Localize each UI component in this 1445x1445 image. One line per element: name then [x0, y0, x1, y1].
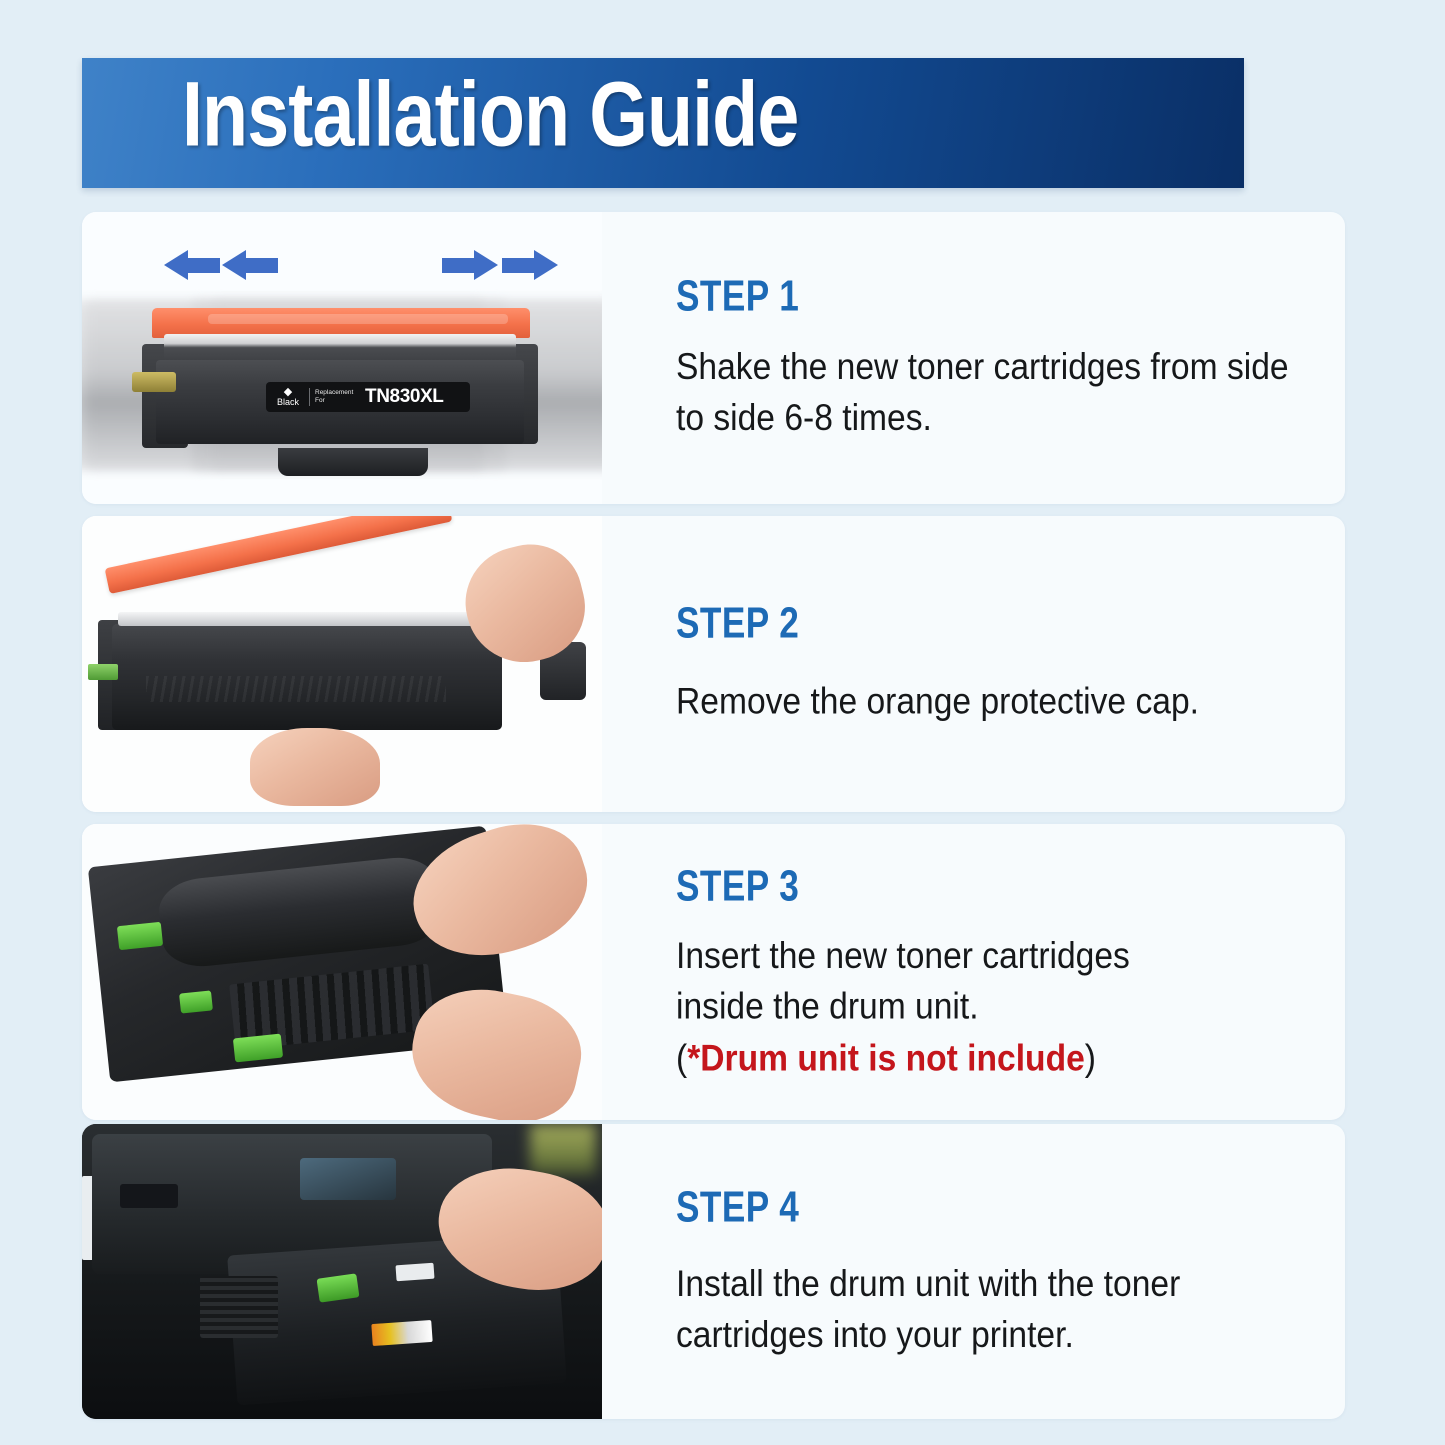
step-4-body: Install the drum unit with the toner car… — [676, 1259, 1290, 1361]
page-root: Installation Guide — [0, 0, 1445, 1445]
step-1-label: STEP 1 — [676, 272, 1265, 322]
label-replacement-text: Replacement For — [315, 389, 359, 405]
note-close-paren: ) — [1085, 1037, 1096, 1078]
cartridge-handle — [278, 448, 428, 476]
toner-cartridge-illustration: ◆ Black Replacement For TN830XL — [100, 294, 590, 479]
label-model-number: TN830XL — [365, 386, 444, 408]
drum-unit-illustration — [82, 824, 602, 1120]
shake-arrow-row — [82, 242, 602, 288]
drum-not-included-note: *Drum unit is not include — [687, 1037, 1085, 1078]
cartridge-body: ◆ Black Replacement For TN830XL — [138, 308, 538, 460]
step-3-body: Insert the new toner cartridges inside t… — [676, 931, 1290, 1085]
label-color-block: ◆ Black — [272, 387, 304, 407]
step-2-label: STEP 2 — [676, 599, 1265, 649]
cartridge-label: ◆ Black Replacement For TN830XL — [266, 382, 470, 412]
step-4-text: STEP 4 Install the drum unit with the to… — [602, 1124, 1345, 1419]
printer-installation-illustration — [82, 1124, 602, 1419]
step-1-body: Shake the new toner cartridges from side… — [676, 342, 1290, 444]
green-lever — [179, 990, 213, 1013]
cap-removal-illustration — [82, 516, 602, 812]
printer-vent — [200, 1276, 278, 1338]
step-3-label: STEP 3 — [676, 862, 1265, 912]
cartridge-sticker — [371, 1320, 432, 1346]
page-title: Installation Guide — [182, 63, 798, 168]
shake-arrow-right-2-icon — [502, 250, 558, 280]
orange-protective-cap — [105, 516, 453, 594]
cartridge-chip — [88, 664, 118, 680]
step-card-1: ◆ Black Replacement For TN830XL STEP 1 S… — [82, 212, 1345, 504]
printer-side-slot — [120, 1184, 178, 1208]
step-2-image — [82, 516, 602, 812]
cartridge-body — [112, 624, 502, 730]
step-card-2: STEP 2 Remove the orange protective cap. — [82, 516, 1345, 812]
label-replacement-line1: Replacement — [315, 389, 359, 397]
step-1-image: ◆ Black Replacement For TN830XL — [82, 212, 602, 504]
printer-control-panel — [300, 1158, 396, 1200]
step-3-body-line2: inside the drum unit. — [676, 982, 1290, 1033]
header-banner: Installation Guide — [82, 58, 1244, 188]
shake-arrow-left-2-icon — [222, 250, 278, 280]
step-3-note-row: (*Drum unit is not include) — [676, 1033, 1290, 1084]
cartridge-gear — [132, 372, 176, 392]
green-lever — [233, 1034, 283, 1063]
shake-arrow-left-1-icon — [164, 250, 220, 280]
step-4-image — [82, 1124, 602, 1419]
step-2-text: STEP 2 Remove the orange protective cap. — [602, 516, 1345, 812]
green-lever — [117, 922, 163, 950]
step-card-4: STEP 4 Install the drum unit with the to… — [82, 1124, 1345, 1419]
note-open-paren: ( — [676, 1037, 687, 1078]
step-card-3: STEP 3 Insert the new toner cartridges i… — [82, 824, 1345, 1120]
step-1-text: STEP 1 Shake the new toner cartridges fr… — [602, 212, 1345, 504]
background-blur-object — [530, 1124, 596, 1176]
step-3-image — [82, 824, 602, 1120]
step-3-text: STEP 3 Insert the new toner cartridges i… — [602, 824, 1345, 1120]
label-divider — [309, 388, 310, 406]
label-color-name: Black — [277, 397, 299, 407]
hand-holding-cartridge — [250, 728, 380, 806]
shake-arrow-right-1-icon — [442, 250, 498, 280]
step-2-body: Remove the orange protective cap. — [676, 677, 1290, 728]
step-4-label: STEP 4 — [676, 1182, 1265, 1232]
cartridge-metal-bar — [118, 612, 486, 626]
step-3-body-line1: Insert the new toner cartridges — [676, 931, 1290, 982]
white-label — [395, 1263, 434, 1282]
label-replacement-line2: For — [315, 397, 359, 405]
